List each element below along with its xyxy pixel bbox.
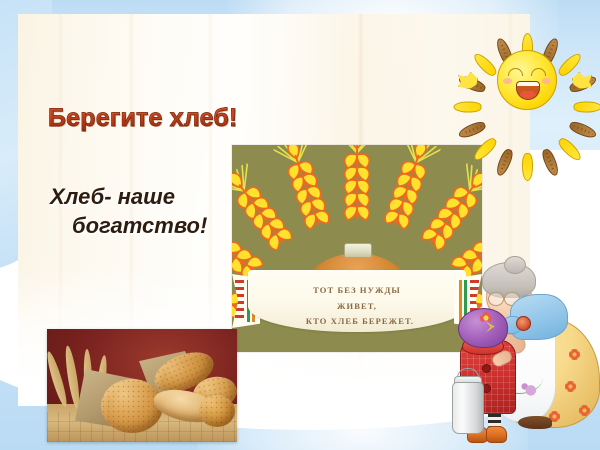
dress-flower [579,405,590,416]
banner-body: ТОТ БЕЗ НУЖДЫ ЖИВЕТ, КТО ХЛЕБ БЕРЕЖЕТ. [248,270,466,332]
assorted-bread-photo [47,329,237,442]
bread-proverb-poster: ТОТ БЕЗ НУЖДЫ ЖИВЕТ, КТО ХЛЕБ БЕРЕЖЕТ. [232,145,482,352]
sun-cheek-left [503,78,512,84]
sun-eye-left [508,68,523,76]
presentation-slide: Берегите хлеб! Хлеб- наше богатство! ТОТ… [0,0,600,450]
subtitle-line-1: Хлеб- наше [50,184,175,209]
proverb-line-2: КТО ХЛЕБ БЕРЕЖЕТ. [298,314,416,330]
bread-loaf [199,395,235,427]
sun-ray-yellow [522,153,533,181]
proverb-text: ТОТ БЕЗ НУЖДЫ ЖИВЕТ, КТО ХЛЕБ БЕРЕЖЕТ. [298,283,416,330]
hat-flower-decoration [480,312,492,324]
page-title: Берегите хлеб! [48,104,238,133]
sun-teeth [517,82,539,86]
child-boot-right [486,426,507,443]
sun-eye-right [531,68,546,76]
sun-ray-yellow [471,51,499,79]
smiling-sun-illustration [452,12,598,146]
sun-ray-wheat [567,120,597,141]
sun-mouth [516,81,540,100]
dress-flower [565,381,576,392]
grandmother-brooch [516,316,531,331]
coat-button [482,364,491,373]
sun-cheek-right [542,78,551,84]
wheat-ear [338,145,376,223]
banner-zigzag-left [235,280,244,322]
sun-ray-yellow [573,102,600,113]
milk-can [452,382,484,434]
grandmother-shoe [518,416,552,429]
grandmother-glasses-left [488,292,504,306]
dress-flower [569,349,580,360]
sun-ray-wheat [457,120,487,141]
bread-seeds [101,379,163,433]
sun-face [497,50,557,110]
sun-tongue [520,91,536,99]
sun-ray-yellow [453,102,481,113]
grandmother-and-child-illustration [452,256,600,450]
proverb-line-1: ТОТ БЕЗ НУЖДЫ ЖИВЕТ, [298,283,416,314]
proverb-banner: ТОТ БЕЗ НУЖДЫ ЖИВЕТ, КТО ХЛЕБ БЕРЕЖЕТ. [232,270,482,342]
bread-seeds [199,395,235,427]
bread-loaf [101,379,163,433]
grandmother-hair-bun [504,256,526,274]
salt-cellar [344,243,372,258]
